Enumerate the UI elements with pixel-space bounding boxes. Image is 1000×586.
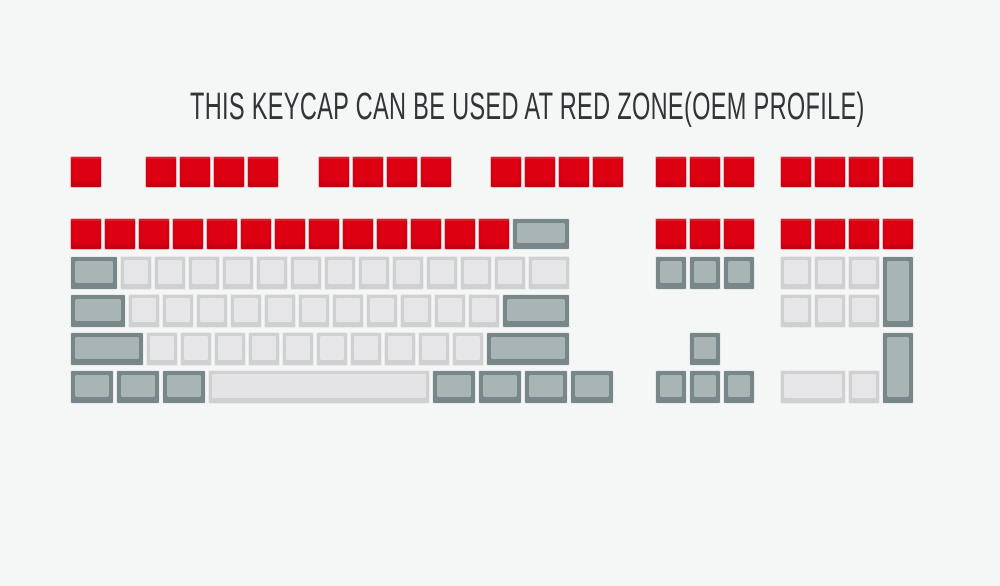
- keycap-surface: [336, 298, 360, 322]
- keycap-surface: [150, 336, 174, 360]
- keycap-numpad-decimal[interactable]: [848, 370, 880, 404]
- keycap-surface: [75, 375, 109, 397]
- keycap-surface: [483, 375, 517, 397]
- keycap-surface: [75, 261, 113, 283]
- keycap-surface: [728, 261, 750, 283]
- keycap-numpad-multiply[interactable]: [848, 156, 880, 188]
- keycap-bracket-left[interactable]: [460, 256, 492, 290]
- keycap-surface: [472, 298, 496, 322]
- keycap-key-q[interactable]: [120, 256, 152, 290]
- keycap-surface: [660, 375, 682, 397]
- keycap-surface: [464, 260, 488, 284]
- keycap-surface: [660, 261, 682, 283]
- keycap-surface: [498, 260, 522, 284]
- keycap-surface: [887, 261, 909, 321]
- keycap-surface: [124, 260, 148, 284]
- keycap-win-left[interactable]: [116, 370, 160, 404]
- keycap-surface: [784, 374, 842, 398]
- keycap-numpad-3[interactable]: [848, 294, 880, 328]
- keycap-key-x[interactable]: [180, 332, 212, 366]
- keycap-shift-right[interactable]: [486, 332, 570, 366]
- keycap-surface: [887, 337, 909, 397]
- keycap-surface: [694, 375, 716, 397]
- keycap-surface: [184, 336, 208, 360]
- keycap-surface: [268, 298, 292, 322]
- keycap-surface: [529, 375, 563, 397]
- keycap-period[interactable]: [418, 332, 450, 366]
- keycap-surface: [294, 260, 318, 284]
- keycap-semicolon[interactable]: [434, 294, 466, 328]
- keycap-slash[interactable]: [452, 332, 484, 366]
- keycap-spacebar[interactable]: [208, 370, 430, 404]
- keycap-surface: [438, 298, 462, 322]
- keycap-numpad-enter[interactable]: [882, 332, 914, 404]
- keycap-surface: [167, 375, 201, 397]
- keycap-print-screen[interactable]: [655, 156, 687, 188]
- keycap-key-u[interactable]: [324, 256, 356, 290]
- keycap-f6[interactable]: [352, 156, 384, 188]
- keycap-key-g[interactable]: [264, 294, 296, 328]
- keycap-numpad-6[interactable]: [848, 256, 880, 290]
- keycap-surface: [437, 375, 471, 397]
- keycap-surface: [784, 260, 808, 284]
- keycap-key-n[interactable]: [316, 332, 348, 366]
- keycap-surface: [362, 260, 386, 284]
- keycap-digit-2[interactable]: [138, 218, 170, 250]
- keycap-numpad-divide[interactable]: [814, 156, 846, 188]
- keycap-key-e[interactable]: [188, 256, 220, 290]
- keycap-digit-4[interactable]: [206, 218, 238, 250]
- keycap-key-a[interactable]: [128, 294, 160, 328]
- keycap-surface: [302, 298, 326, 322]
- keycap-key-b[interactable]: [282, 332, 314, 366]
- keycap-surface: [320, 336, 344, 360]
- keycap-shift-left[interactable]: [70, 332, 144, 366]
- keycap-arrow-up[interactable]: [689, 332, 721, 366]
- keycap-surface: [396, 260, 420, 284]
- keycap-surface: [694, 261, 716, 283]
- keycap-surface: [818, 298, 842, 322]
- keycap-scroll-lock[interactable]: [689, 156, 721, 188]
- keycap-surface: [818, 260, 842, 284]
- keycap-key-s[interactable]: [162, 294, 194, 328]
- keycap-bracket-right[interactable]: [494, 256, 526, 290]
- keycap-surface: [260, 260, 284, 284]
- keycap-comma[interactable]: [384, 332, 416, 366]
- keycap-digit-9[interactable]: [376, 218, 408, 250]
- keycap-alt-left[interactable]: [162, 370, 206, 404]
- keycap-key-o[interactable]: [392, 256, 424, 290]
- keycap-numpad-plus[interactable]: [882, 256, 914, 328]
- keycap-surface: [252, 336, 276, 360]
- keycap-tab[interactable]: [70, 256, 118, 290]
- keycap-surface: [132, 298, 156, 322]
- keyboard-diagram: [0, 0, 1000, 586]
- keycap-insert[interactable]: [655, 218, 687, 250]
- keycap-backtick[interactable]: [70, 218, 102, 250]
- keycap-surface: [212, 374, 426, 398]
- keycap-home[interactable]: [689, 218, 721, 250]
- keycap-numpad-1[interactable]: [780, 294, 812, 328]
- keycap-f1[interactable]: [145, 156, 177, 188]
- keycap-f4[interactable]: [247, 156, 279, 188]
- keycap-surface: [404, 298, 428, 322]
- keycap-key-c[interactable]: [214, 332, 246, 366]
- keycap-minus[interactable]: [444, 218, 476, 250]
- keycap-f9[interactable]: [490, 156, 522, 188]
- keycap-end[interactable]: [689, 256, 721, 290]
- keycap-arrow-right[interactable]: [723, 370, 755, 404]
- keycap-pause-break[interactable]: [723, 156, 755, 188]
- keycap-numpad-9[interactable]: [848, 218, 880, 250]
- keycap-surface: [166, 298, 190, 322]
- keycap-ctrl-right[interactable]: [570, 370, 614, 404]
- keycap-menu[interactable]: [524, 370, 568, 404]
- keycap-numpad-4[interactable]: [780, 256, 812, 290]
- keycap-surface: [370, 298, 394, 322]
- keycap-digit-1[interactable]: [104, 218, 136, 250]
- keycap-surface: [532, 260, 566, 284]
- keycap-surface: [354, 336, 378, 360]
- keycap-caps-lock[interactable]: [70, 294, 126, 328]
- keycap-surface: [158, 260, 182, 284]
- keycap-surface: [575, 375, 609, 397]
- keycap-surface: [694, 337, 716, 359]
- keycap-numpad-plus-top[interactable]: [882, 218, 914, 250]
- keycap-key-y[interactable]: [290, 256, 322, 290]
- keycap-ctrl-left[interactable]: [70, 370, 114, 404]
- keycap-surface: [75, 337, 139, 359]
- keycap-surface: [852, 374, 876, 398]
- keycap-digit-0[interactable]: [410, 218, 442, 250]
- keycap-key-i[interactable]: [358, 256, 390, 290]
- keycap-key-l[interactable]: [400, 294, 432, 328]
- keycap-surface: [192, 260, 216, 284]
- keycap-surface: [121, 375, 155, 397]
- keycap-key-t[interactable]: [256, 256, 288, 290]
- keycap-f2[interactable]: [179, 156, 211, 188]
- keycap-surface: [75, 299, 121, 321]
- keycap-numpad-0[interactable]: [780, 370, 846, 404]
- keycap-surface: [491, 337, 565, 359]
- keycap-backslash[interactable]: [528, 256, 570, 290]
- keycap-surface: [517, 223, 565, 243]
- keycap-surface: [218, 336, 242, 360]
- keycap-surface: [200, 298, 224, 322]
- keycap-f5[interactable]: [318, 156, 350, 188]
- keycap-digit-7[interactable]: [308, 218, 340, 250]
- keycap-surface: [728, 375, 750, 397]
- keycap-digit-3[interactable]: [172, 218, 204, 250]
- keycap-key-k[interactable]: [366, 294, 398, 328]
- keycap-surface: [456, 336, 480, 360]
- keycap-surface: [852, 298, 876, 322]
- keycap-numpad-2[interactable]: [814, 294, 846, 328]
- keycap-key-z[interactable]: [146, 332, 178, 366]
- keycap-f7[interactable]: [386, 156, 418, 188]
- keycap-arrow-down[interactable]: [689, 370, 721, 404]
- keycap-surface: [226, 260, 250, 284]
- keycap-key-f[interactable]: [230, 294, 262, 328]
- keycap-alt-right[interactable]: [432, 370, 476, 404]
- keycap-numpad-7[interactable]: [780, 218, 812, 250]
- keycap-numpad-8[interactable]: [814, 218, 846, 250]
- keycap-f8[interactable]: [420, 156, 452, 188]
- keycap-page-down[interactable]: [723, 256, 755, 290]
- keycap-equal[interactable]: [478, 218, 510, 250]
- keycap-key-h[interactable]: [298, 294, 330, 328]
- keycap-surface: [234, 298, 258, 322]
- keycap-key-m[interactable]: [350, 332, 382, 366]
- keycap-delete[interactable]: [655, 256, 687, 290]
- keycap-surface: [430, 260, 454, 284]
- keycap-surface: [784, 298, 808, 322]
- keycap-f10[interactable]: [524, 156, 556, 188]
- keycap-surface: [852, 260, 876, 284]
- keycap-quote[interactable]: [468, 294, 500, 328]
- keycap-digit-6[interactable]: [274, 218, 306, 250]
- keycap-backspace[interactable]: [512, 218, 570, 250]
- keycap-key-r[interactable]: [222, 256, 254, 290]
- keycap-surface: [328, 260, 352, 284]
- keycap-escape[interactable]: [70, 156, 102, 188]
- keycap-key-j[interactable]: [332, 294, 364, 328]
- keycap-page-up[interactable]: [723, 218, 755, 250]
- keycap-num-lock[interactable]: [780, 156, 812, 188]
- keycap-key-w[interactable]: [154, 256, 186, 290]
- keycap-numpad-5[interactable]: [814, 256, 846, 290]
- keycap-key-p[interactable]: [426, 256, 458, 290]
- keycap-surface: [388, 336, 412, 360]
- keycap-enter[interactable]: [502, 294, 570, 328]
- keycap-surface: [507, 299, 565, 321]
- keycap-digit-5[interactable]: [240, 218, 272, 250]
- keycap-surface: [286, 336, 310, 360]
- keycap-numpad-minus[interactable]: [882, 156, 914, 188]
- keycap-arrow-left[interactable]: [655, 370, 687, 404]
- keycap-win-right[interactable]: [478, 370, 522, 404]
- keycap-digit-8[interactable]: [342, 218, 374, 250]
- keycap-f12[interactable]: [592, 156, 624, 188]
- keycap-surface: [422, 336, 446, 360]
- keycap-f11[interactable]: [558, 156, 590, 188]
- keycap-key-d[interactable]: [196, 294, 228, 328]
- keycap-key-v[interactable]: [248, 332, 280, 366]
- keycap-f3[interactable]: [213, 156, 245, 188]
